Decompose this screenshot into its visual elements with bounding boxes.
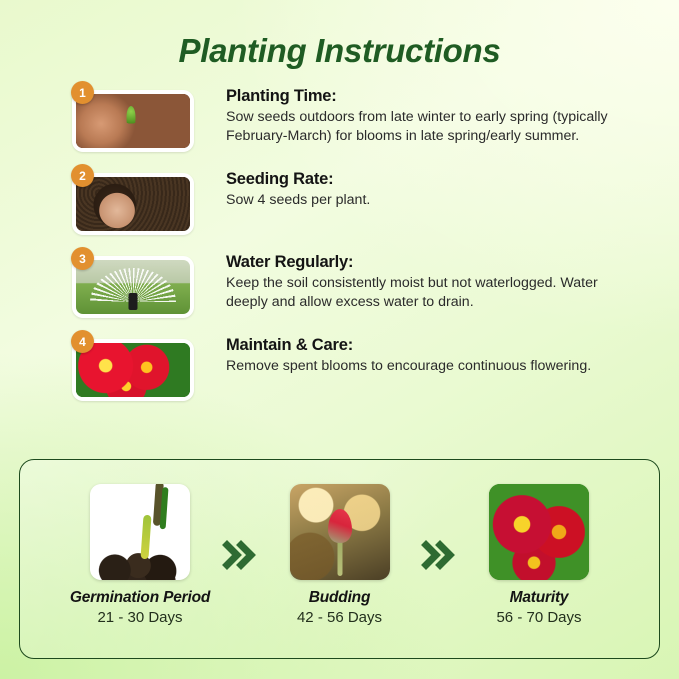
step-body-3: Keep the soil consistently moist but not…: [226, 274, 626, 311]
list-item-step-1: 1 Planting Time: Sow seeds outdoors from…: [72, 85, 651, 155]
timeline-stage-germination: Germination Period 21 - 30 Days: [66, 484, 214, 626]
step-thumbnail-wrap-4: 4: [72, 334, 200, 401]
step-body-2: Sow 4 seeds per plant.: [226, 191, 370, 210]
blooming-primrose-photo: [489, 484, 589, 580]
step-text-1: Planting Time: Sow seeds outdoors from l…: [200, 85, 626, 145]
list-item-step-4: 4 Maintain & Care: Remove spent blooms t…: [72, 334, 651, 404]
timeline-stage-maturity: Maturity 56 - 70 Days: [465, 484, 613, 626]
step-title-4: Maintain & Care:: [226, 336, 591, 355]
step-thumbnail-wrap-2: 2: [72, 168, 200, 235]
page-title: Planting Instructions: [0, 0, 679, 69]
stage-days-maturity: 56 - 70 Days: [465, 609, 613, 626]
list-item-step-3: 3 Water Regularly: Keep the soil consist…: [72, 251, 651, 321]
step-text-3: Water Regularly: Keep the soil consisten…: [200, 251, 626, 311]
stage-label-germination: Germination Period: [66, 589, 214, 607]
step-body-1: Sow seeds outdoors from late winter to e…: [226, 108, 626, 145]
stage-days-germination: 21 - 30 Days: [66, 609, 214, 626]
sprouting-seed-photo: [90, 484, 190, 580]
double-chevron-right-icon-2: [418, 534, 460, 576]
step-title-3: Water Regularly:: [226, 253, 626, 272]
step-text-2: Seeding Rate: Sow 4 seeds per plant.: [200, 168, 370, 210]
step-thumbnail-wrap-3: 3: [72, 251, 200, 318]
timeline-stage-budding: Budding 42 - 56 Days: [266, 484, 414, 626]
growth-timeline-panel: Germination Period 21 - 30 Days Budding …: [19, 459, 660, 659]
stage-label-maturity: Maturity: [465, 589, 613, 607]
step-body-4: Remove spent blooms to encourage continu…: [226, 357, 591, 376]
list-item-step-2: 2 Seeding Rate: Sow 4 seeds per plant.: [72, 168, 651, 238]
stage-days-budding: 42 - 56 Days: [266, 609, 414, 626]
stage-label-budding: Budding: [266, 589, 414, 607]
instruction-steps-list: 1 Planting Time: Sow seeds outdoors from…: [0, 85, 679, 404]
step-text-4: Maintain & Care: Remove spent blooms to …: [200, 334, 591, 376]
step-title-1: Planting Time:: [226, 87, 626, 106]
double-chevron-right-icon: [219, 534, 261, 576]
step-thumbnail-wrap-1: 1: [72, 85, 200, 152]
step-title-2: Seeding Rate:: [226, 170, 370, 189]
flower-bud-photo: [290, 484, 390, 580]
